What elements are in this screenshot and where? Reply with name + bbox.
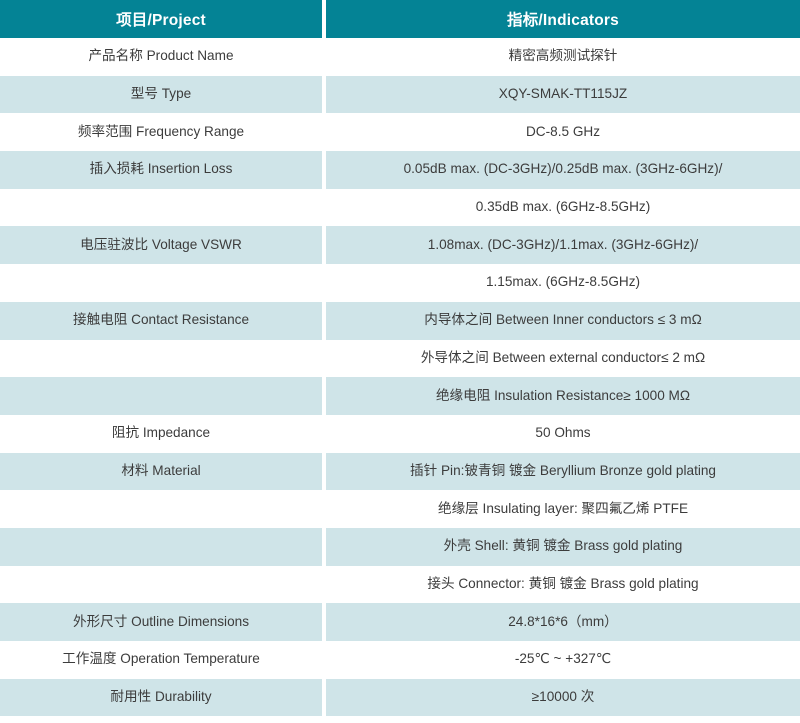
cell-indicator: 插针 Pin:铍青铜 镀金 Beryllium Bronze gold plat… bbox=[326, 453, 800, 491]
column-header-project: 项目/Project bbox=[0, 0, 322, 38]
cell-indicator: 绝缘层 Insulating layer: 聚四氟乙烯 PTFE bbox=[326, 490, 800, 528]
cell-project bbox=[0, 189, 322, 227]
table-row: 工作温度 Operation Temperature-25℃ ~ +327℃ bbox=[0, 641, 800, 679]
cell-indicator: 0.35dB max. (6GHz-8.5GHz) bbox=[326, 189, 800, 227]
table-row: 电压驻波比 Voltage VSWR1.08max. (DC-3GHz)/1.1… bbox=[0, 226, 800, 264]
table-row: 接头 Connector: 黄铜 镀金 Brass gold plating bbox=[0, 566, 800, 604]
cell-project bbox=[0, 566, 322, 604]
table-header: 项目/Project 指标/Indicators bbox=[0, 0, 800, 38]
table-row: 接触电阻 Contact Resistance内导体之间 Between Inn… bbox=[0, 302, 800, 340]
cell-indicator: DC-8.5 GHz bbox=[326, 113, 800, 151]
table-row: 外导体之间 Between external conductor≤ 2 mΩ bbox=[0, 340, 800, 378]
cell-indicator: 1.08max. (DC-3GHz)/1.1max. (3GHz-6GHz)/ bbox=[326, 226, 800, 264]
cell-indicator: 外导体之间 Between external conductor≤ 2 mΩ bbox=[326, 340, 800, 378]
table-row: 1.15max. (6GHz-8.5GHz) bbox=[0, 264, 800, 302]
cell-project: 电压驻波比 Voltage VSWR bbox=[0, 226, 322, 264]
cell-indicator: 接头 Connector: 黄铜 镀金 Brass gold plating bbox=[326, 566, 800, 604]
cell-indicator: 绝缘电阻 Insulation Resistance≥ 1000 MΩ bbox=[326, 377, 800, 415]
cell-project: 插入损耗 Insertion Loss bbox=[0, 151, 322, 189]
table-row: 0.35dB max. (6GHz-8.5GHz) bbox=[0, 189, 800, 227]
cell-indicator: XQY-SMAK-TT115JZ bbox=[326, 76, 800, 114]
cell-indicator: 外壳 Shell: 黄铜 镀金 Brass gold plating bbox=[326, 528, 800, 566]
table-row: 频率范围 Frequency RangeDC-8.5 GHz bbox=[0, 113, 800, 151]
cell-project: 型号 Type bbox=[0, 76, 322, 114]
cell-project bbox=[0, 528, 322, 566]
cell-project: 频率范围 Frequency Range bbox=[0, 113, 322, 151]
cell-project: 接触电阻 Contact Resistance bbox=[0, 302, 322, 340]
product-specification-table: 项目/Project 指标/Indicators 产品名称 Product Na… bbox=[0, 0, 800, 716]
cell-indicator: ≥10000 次 bbox=[326, 679, 800, 717]
table-row: 绝缘层 Insulating layer: 聚四氟乙烯 PTFE bbox=[0, 490, 800, 528]
cell-project: 阻抗 Impedance bbox=[0, 415, 322, 453]
cell-indicator: 精密高频测试探针 bbox=[326, 38, 800, 76]
cell-indicator: 0.05dB max. (DC-3GHz)/0.25dB max. (3GHz-… bbox=[326, 151, 800, 189]
column-header-indicators: 指标/Indicators bbox=[326, 0, 800, 38]
table-row: 阻抗 Impedance50 Ohms bbox=[0, 415, 800, 453]
table-row: 插入损耗 Insertion Loss0.05dB max. (DC-3GHz)… bbox=[0, 151, 800, 189]
cell-indicator: 内导体之间 Between Inner conductors ≤ 3 mΩ bbox=[326, 302, 800, 340]
table-row: 绝缘电阻 Insulation Resistance≥ 1000 MΩ bbox=[0, 377, 800, 415]
cell-project bbox=[0, 264, 322, 302]
table-row: 外壳 Shell: 黄铜 镀金 Brass gold plating bbox=[0, 528, 800, 566]
cell-indicator: -25℃ ~ +327℃ bbox=[326, 641, 800, 679]
table-row: 材料 Material插针 Pin:铍青铜 镀金 Beryllium Bronz… bbox=[0, 453, 800, 491]
table-row: 外形尺寸 Outline Dimensions24.8*16*6（mm） bbox=[0, 603, 800, 641]
cell-project bbox=[0, 490, 322, 528]
table-body: 产品名称 Product Name精密高频测试探针型号 TypeXQY-SMAK… bbox=[0, 38, 800, 716]
cell-indicator: 24.8*16*6（mm） bbox=[326, 603, 800, 641]
table-row: 耐用性 Durability≥10000 次 bbox=[0, 679, 800, 717]
cell-indicator: 1.15max. (6GHz-8.5GHz) bbox=[326, 264, 800, 302]
cell-project: 外形尺寸 Outline Dimensions bbox=[0, 603, 322, 641]
cell-project: 产品名称 Product Name bbox=[0, 38, 322, 76]
table-header-row: 项目/Project 指标/Indicators bbox=[0, 0, 800, 38]
cell-indicator: 50 Ohms bbox=[326, 415, 800, 453]
cell-project: 工作温度 Operation Temperature bbox=[0, 641, 322, 679]
cell-project: 耐用性 Durability bbox=[0, 679, 322, 717]
cell-project bbox=[0, 340, 322, 378]
cell-project bbox=[0, 377, 322, 415]
table-row: 产品名称 Product Name精密高频测试探针 bbox=[0, 38, 800, 76]
table-row: 型号 TypeXQY-SMAK-TT115JZ bbox=[0, 76, 800, 114]
cell-project: 材料 Material bbox=[0, 453, 322, 491]
